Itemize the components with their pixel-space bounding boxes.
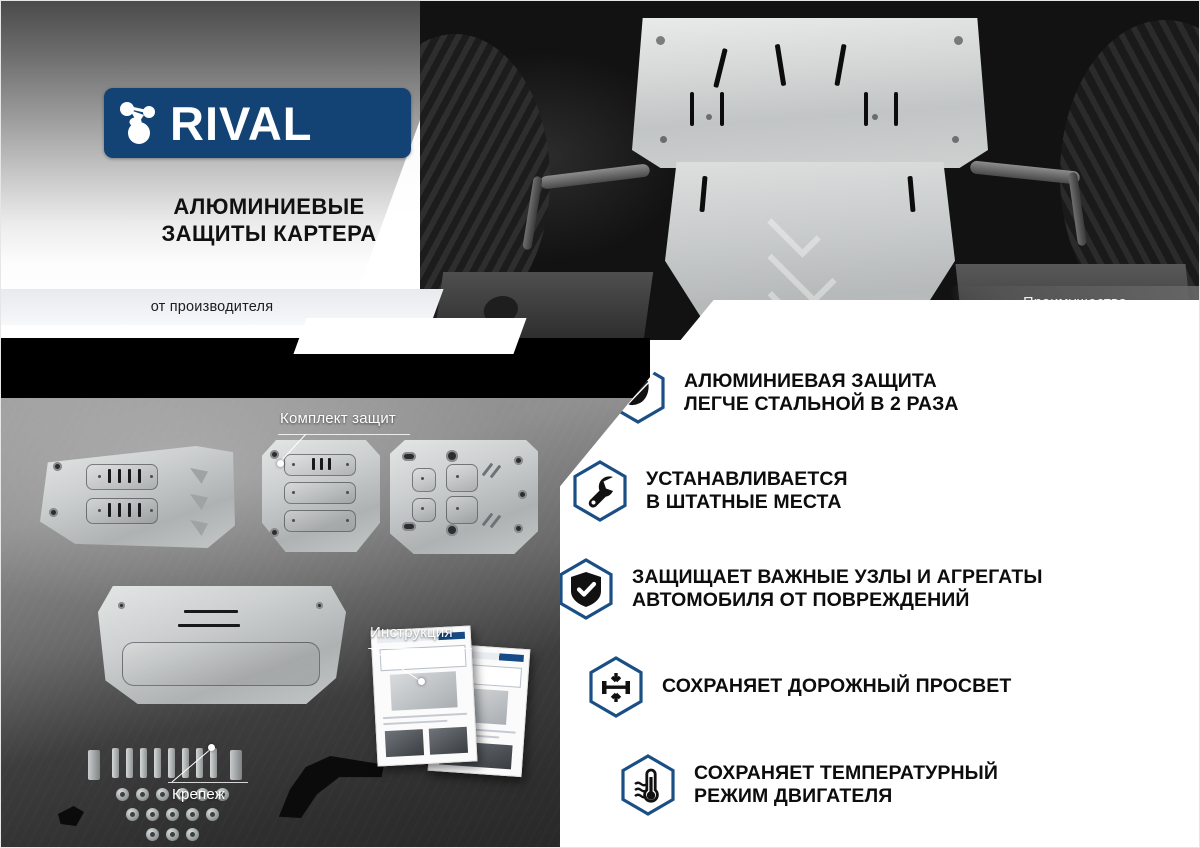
page-title-line1: АЛЮМИНИЕВЫЕ	[104, 193, 434, 220]
benefit-1-line1: АЛЮМИНИЕВАЯ ЗАЩИТА	[684, 370, 959, 393]
benefits-panel: АЛЮМИНИЕВАЯ ЗАЩИТА ЛЕГЧЕ СТАЛЬНОЙ В 2 РА…	[560, 300, 1200, 848]
skid-plate-c	[390, 440, 538, 554]
benefit-text-3: ЗАЩИЩАЕТ ВАЖНЫЕ УЗЛЫ И АГРЕГАТЫ АВТОМОБИ…	[632, 566, 1043, 613]
label-instruction: Инструкция	[370, 624, 453, 641]
benefit-5-line1: СОХРАНЯЕТ ТЕМПЕРАТУРНЫЙ	[694, 762, 998, 785]
label-hardware-dot	[208, 744, 215, 751]
wrench-icon	[572, 460, 628, 522]
benefit-item-1: АЛЮМИНИЕВАЯ ЗАЩИТА ЛЕГЧЕ СТАЛЬНОЙ В 2 РА…	[610, 362, 1190, 424]
skid-plate-a	[40, 446, 235, 548]
benefit-text-2: УСТАНАВЛИВАЕТСЯ В ШТАТНЫЕ МЕСТА	[646, 468, 848, 515]
page-title-line2: ЗАЩИТЫ КАРТЕРА	[104, 220, 434, 247]
benefit-1-line2: ЛЕГЧЕ СТАЛЬНОЙ В 2 РАЗА	[684, 393, 959, 416]
benefit-text-4: СОХРАНЯЕТ ДОРОЖНЫЙ ПРОСВЕТ	[662, 675, 1011, 698]
benefit-2-line2: В ШТАТНЫЕ МЕСТА	[646, 491, 848, 514]
benefit-4-line1: СОХРАНЯЕТ ДОРОЖНЫЙ ПРОСВЕТ	[662, 675, 1011, 698]
brand-name: RIVAL	[170, 100, 313, 147]
skid-plate-installed-upper	[632, 18, 988, 168]
label-instruction-dot	[418, 678, 425, 685]
instruction-sheet-front	[371, 625, 478, 766]
undercarriage-photo: Преимущества	[420, 0, 1200, 340]
benefit-item-5: СОХРАНЯЕТ ТЕМПЕРАТУРНЫЙ РЕЖИМ ДВИГАТЕЛЯ	[620, 754, 1190, 816]
benefit-text-5: СОХРАНЯЕТ ТЕМПЕРАТУРНЫЙ РЕЖИМ ДВИГАТЕЛЯ	[694, 762, 998, 809]
molecule-icon	[118, 97, 164, 150]
promo-poster: RIVAL АЛЮМИНИЕВЫЕ ЗАЩИТЫ КАРТЕРА от прои…	[0, 0, 1200, 848]
thermometer-icon	[620, 754, 676, 816]
page-subtitle: от производителя	[151, 299, 274, 315]
page-title: АЛЮМИНИЕВЫЕ ЗАЩИТЫ КАРТЕРА	[104, 193, 434, 248]
benefit-2-line1: УСТАНАВЛИВАЕТСЯ	[646, 468, 848, 491]
benefit-text-1: АЛЮМИНИЕВАЯ ЗАЩИТА ЛЕГЧЕ СТАЛЬНОЙ В 2 РА…	[684, 370, 959, 417]
label-hardware: Крепеж	[172, 786, 225, 803]
benefit-item-2: УСТАНАВЛИВАЕТСЯ В ШТАТНЫЕ МЕСТА	[572, 460, 1190, 522]
benefit-3-line1: ЗАЩИЩАЕТ ВАЖНЫЕ УЗЛЫ И АГРЕГАТЫ	[632, 566, 1043, 589]
label-hardware-leader	[170, 746, 214, 784]
benefit-5-line2: РЕЖИМ ДВИГАТЕЛЯ	[694, 785, 998, 808]
shield-check-icon	[558, 558, 614, 620]
benefits-list: АЛЮМИНИЕВАЯ ЗАЩИТА ЛЕГЧЕ СТАЛЬНОЙ В 2 РА…	[610, 362, 1190, 816]
benefit-item-4: СОХРАНЯЕТ ДОРОЖНЫЙ ПРОСВЕТ	[588, 656, 1190, 718]
benefit-item-3: ЗАЩИЩАЕТ ВАЖНЫЕ УЗЛЫ И АГРЕГАТЫ АВТОМОБИ…	[558, 558, 1190, 620]
rival-logo: RIVAL	[104, 88, 411, 158]
label-kit-leader	[278, 434, 308, 464]
skid-plate-large	[98, 586, 346, 704]
ground-clearance-icon	[588, 656, 644, 718]
label-kit-dot	[277, 460, 284, 467]
benefit-3-line2: АВТОМОБИЛЯ ОТ ПОВРЕЖДЕНИЙ	[632, 589, 1043, 612]
label-instruction-leader	[368, 648, 426, 684]
diagonal-wedge-top	[293, 318, 526, 354]
label-kit: Комплект защит	[280, 410, 396, 427]
